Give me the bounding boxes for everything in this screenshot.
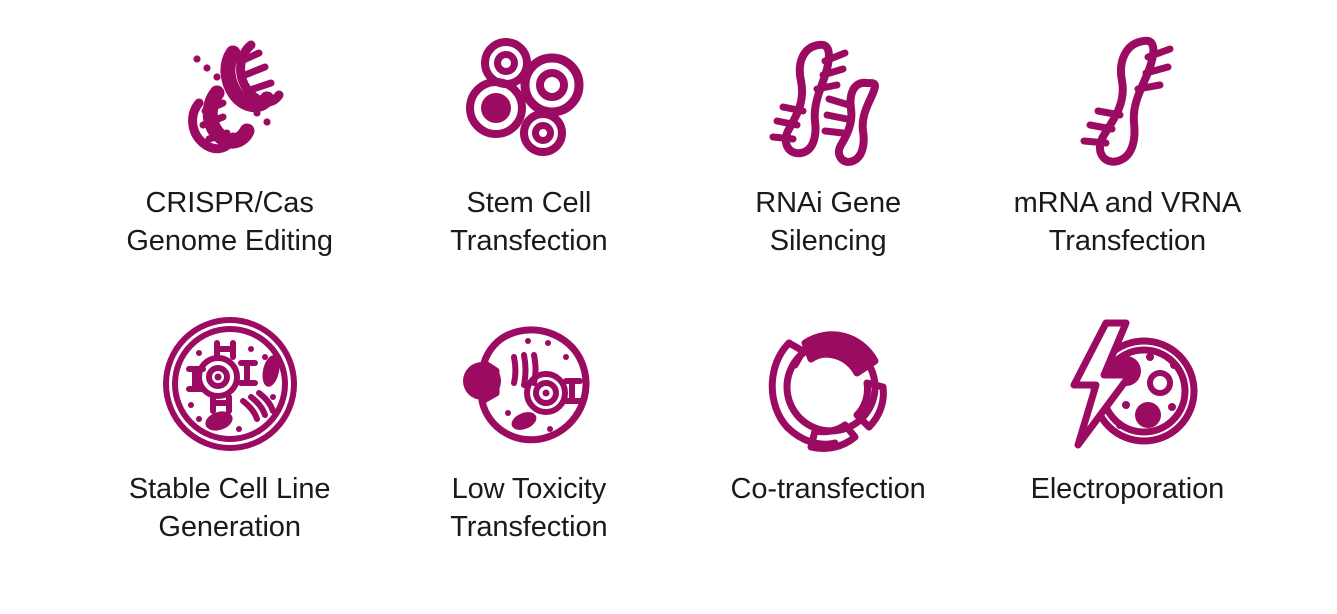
feature-grid: CRISPR/Cas Genome Editing Stem Cell Tran… <box>0 0 1337 614</box>
feature-label: CRISPR/Cas Genome Editing <box>126 184 333 261</box>
feature-label: mRNA and VRNA Transfection <box>1014 184 1242 261</box>
feature-item-crispr-cas-genome-editing[interactable]: CRISPR/Cas Genome Editing <box>80 18 379 304</box>
feature-label: Stem Cell Transfection <box>450 184 607 261</box>
feature-label: RNAi Gene Silencing <box>755 184 901 261</box>
plasmid-ring-icon <box>753 304 903 464</box>
feature-label: Co-transfection <box>731 470 926 508</box>
stem-cells-icon <box>454 18 604 178</box>
crispr-dna-scissors-icon <box>155 18 305 178</box>
lightning-cell-icon <box>1052 304 1202 464</box>
feature-label: Stable Cell Line Generation <box>129 470 331 547</box>
feature-item-stem-cell-transfection[interactable]: Stem Cell Transfection <box>379 18 678 304</box>
cell-uptake-icon <box>454 304 604 464</box>
feature-item-co-transfection[interactable]: Co-transfection <box>679 304 978 590</box>
feature-item-low-toxicity-transfection[interactable]: Low Toxicity Transfection <box>379 304 678 590</box>
feature-item-mrna-vrna-transfection[interactable]: mRNA and VRNA Transfection <box>978 18 1277 304</box>
cell-organelles-icon <box>155 304 305 464</box>
rna-single-strand-icon <box>1052 18 1202 178</box>
rna-double-strand-icon <box>753 18 903 178</box>
feature-label: Electroporation <box>1031 470 1225 508</box>
feature-label: Low Toxicity Transfection <box>450 470 607 547</box>
feature-item-stable-cell-line-generation[interactable]: Stable Cell Line Generation <box>80 304 379 590</box>
feature-item-electroporation[interactable]: Electroporation <box>978 304 1277 590</box>
feature-item-rnai-gene-silencing[interactable]: RNAi Gene Silencing <box>679 18 978 304</box>
